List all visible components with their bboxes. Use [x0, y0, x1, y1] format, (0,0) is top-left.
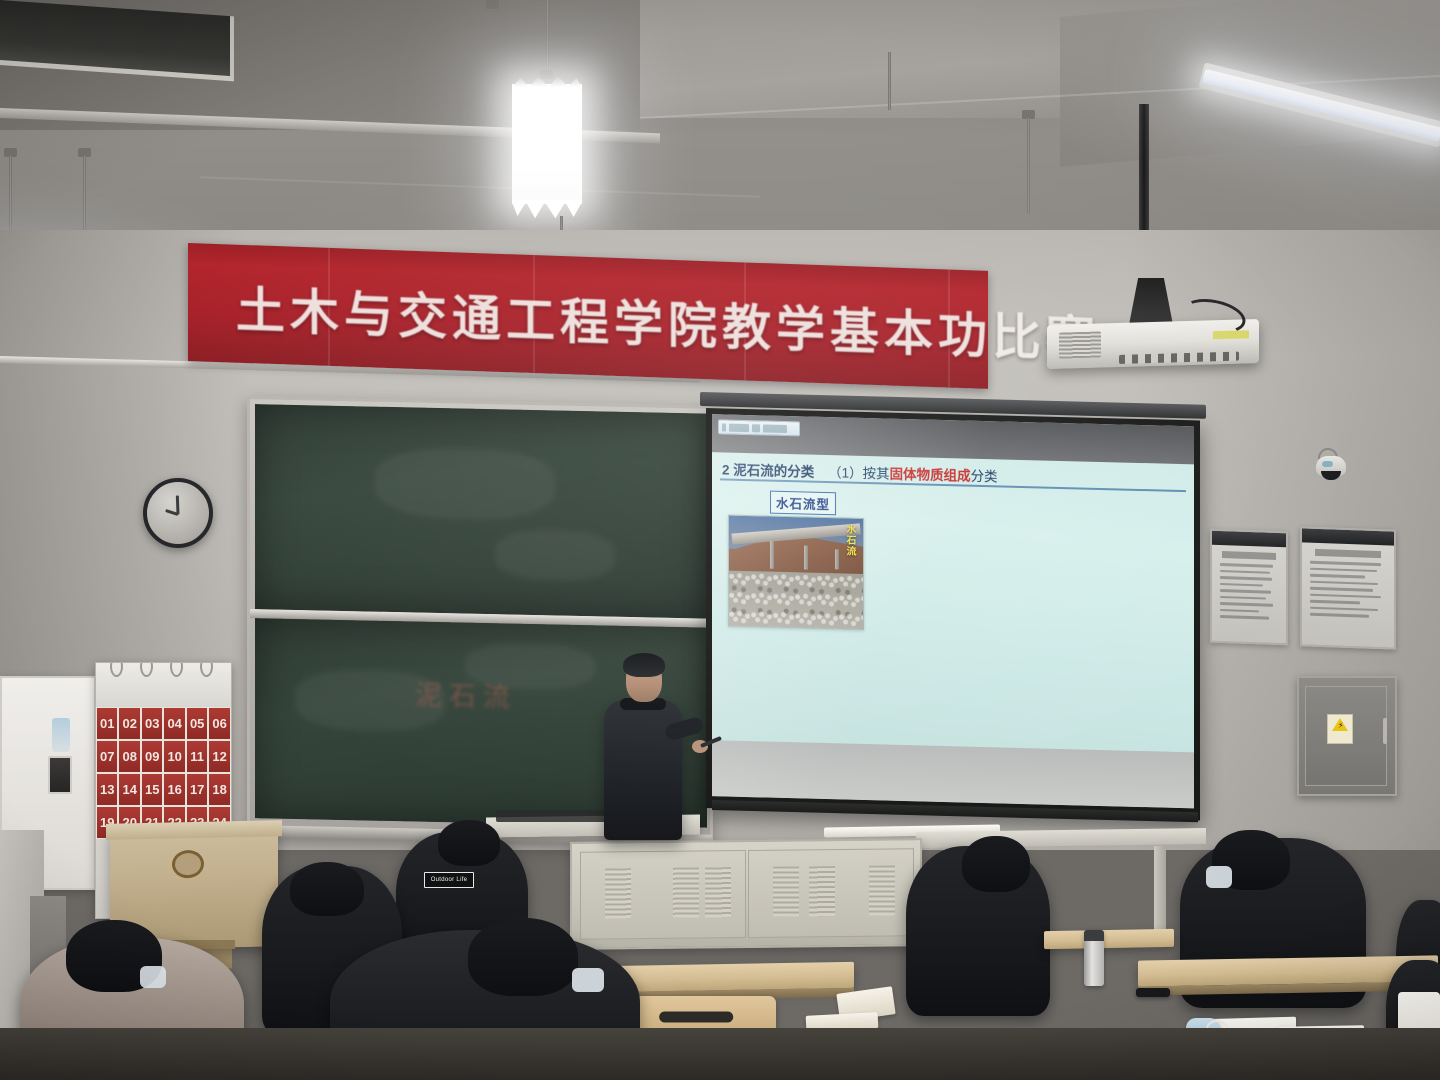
- calendar-day: 09: [141, 740, 163, 773]
- high-voltage-warning-icon: ⚡: [1327, 714, 1353, 744]
- counter-leg: [1154, 846, 1166, 938]
- panel-handle[interactable]: [1383, 718, 1387, 744]
- audience-head: [962, 836, 1030, 892]
- calendar-day: 14: [118, 773, 140, 806]
- projection-screen: 2 泥石流的分类 （1）按其固体物质组成分类 水石流型 水石流: [706, 408, 1200, 821]
- notice-board-1: [1210, 529, 1288, 646]
- warning-bolt-glyph: ⚡: [1338, 722, 1344, 730]
- calendar-grid: 01 02 03 04 05 06 07 08 09 10 11 12 13 1…: [96, 707, 231, 839]
- podium-cabinet: [570, 838, 922, 950]
- podium-top: [106, 820, 282, 840]
- calendar-day: 16: [163, 773, 185, 806]
- ceiling-rod-4: [1027, 118, 1030, 214]
- calendar-day: 13: [96, 773, 118, 806]
- chalk-writing: 泥石流: [415, 674, 517, 715]
- calendar-day: 18: [208, 773, 230, 806]
- projector-ports: [1119, 352, 1239, 364]
- audience-head: [290, 862, 364, 916]
- phone-on-desk: [1136, 988, 1170, 997]
- calendar-day: 10: [163, 740, 185, 773]
- desk-equipment: [496, 810, 616, 822]
- calendar-day: 12: [208, 740, 230, 773]
- face-mask-worn: [572, 968, 604, 992]
- electrical-panel[interactable]: ⚡: [1297, 676, 1397, 796]
- notice-board-2: [1300, 526, 1396, 649]
- screen-surface: 2 泥石流的分类 （1）按其固体物质组成分类 水石流型 水石流: [712, 414, 1194, 808]
- calendar-day: 08: [118, 740, 140, 773]
- wall-clock: [143, 478, 213, 548]
- pendant-rod-1: [546, 0, 549, 74]
- calendar-day: 06: [208, 707, 230, 740]
- calendar-header: [96, 663, 231, 707]
- notice-header-2: [1302, 528, 1394, 545]
- jacket-brand-label: Outdoor Life: [424, 872, 474, 888]
- screen-glare: [712, 414, 1001, 808]
- ceiling-mount-3: [486, 0, 499, 9]
- cabinet-door-left[interactable]: [580, 850, 746, 940]
- calendar-day: 01: [96, 707, 118, 740]
- classroom-photo: 土木与交通工程学院教学基本功比赛 泥石流: [0, 0, 1440, 1080]
- banner-text: 土木与交通工程学院教学基本功比赛: [236, 271, 956, 367]
- face-mask-worn: [1206, 866, 1232, 888]
- wall-switch[interactable]: [48, 756, 72, 794]
- blackboard-panel-upper: [255, 404, 707, 618]
- pendant-cap-1: [540, 70, 553, 79]
- wall-camera-icon: [1316, 456, 1346, 476]
- calendar-day: 04: [163, 707, 185, 740]
- calendar-day: 17: [186, 773, 208, 806]
- notice-header-1: [1212, 531, 1286, 548]
- presenter-hair: [623, 653, 665, 677]
- projector-vent: [1059, 331, 1101, 358]
- cabinet-door-right[interactable]: [748, 848, 914, 938]
- calendar-day: 03: [141, 707, 163, 740]
- pendant-lamp-1: [512, 84, 582, 204]
- student-desk: [604, 962, 854, 992]
- calendar-day: 11: [186, 740, 208, 773]
- audience-head: [468, 918, 578, 996]
- calendar-day: 05: [186, 707, 208, 740]
- face-mask-worn: [140, 966, 166, 988]
- water-bottle: [52, 718, 70, 752]
- thermos-bottle: [1084, 930, 1104, 986]
- audience-head: [438, 820, 500, 866]
- calendar-day: 07: [96, 740, 118, 773]
- calendar-day: 15: [141, 773, 163, 806]
- floor-shadow: [0, 1028, 1440, 1080]
- student-desk: [1044, 929, 1174, 949]
- cable-grommet: [172, 850, 204, 879]
- calendar-day: 02: [118, 707, 140, 740]
- presenter-body: [604, 700, 682, 840]
- ceiling-rod-5: [888, 52, 891, 110]
